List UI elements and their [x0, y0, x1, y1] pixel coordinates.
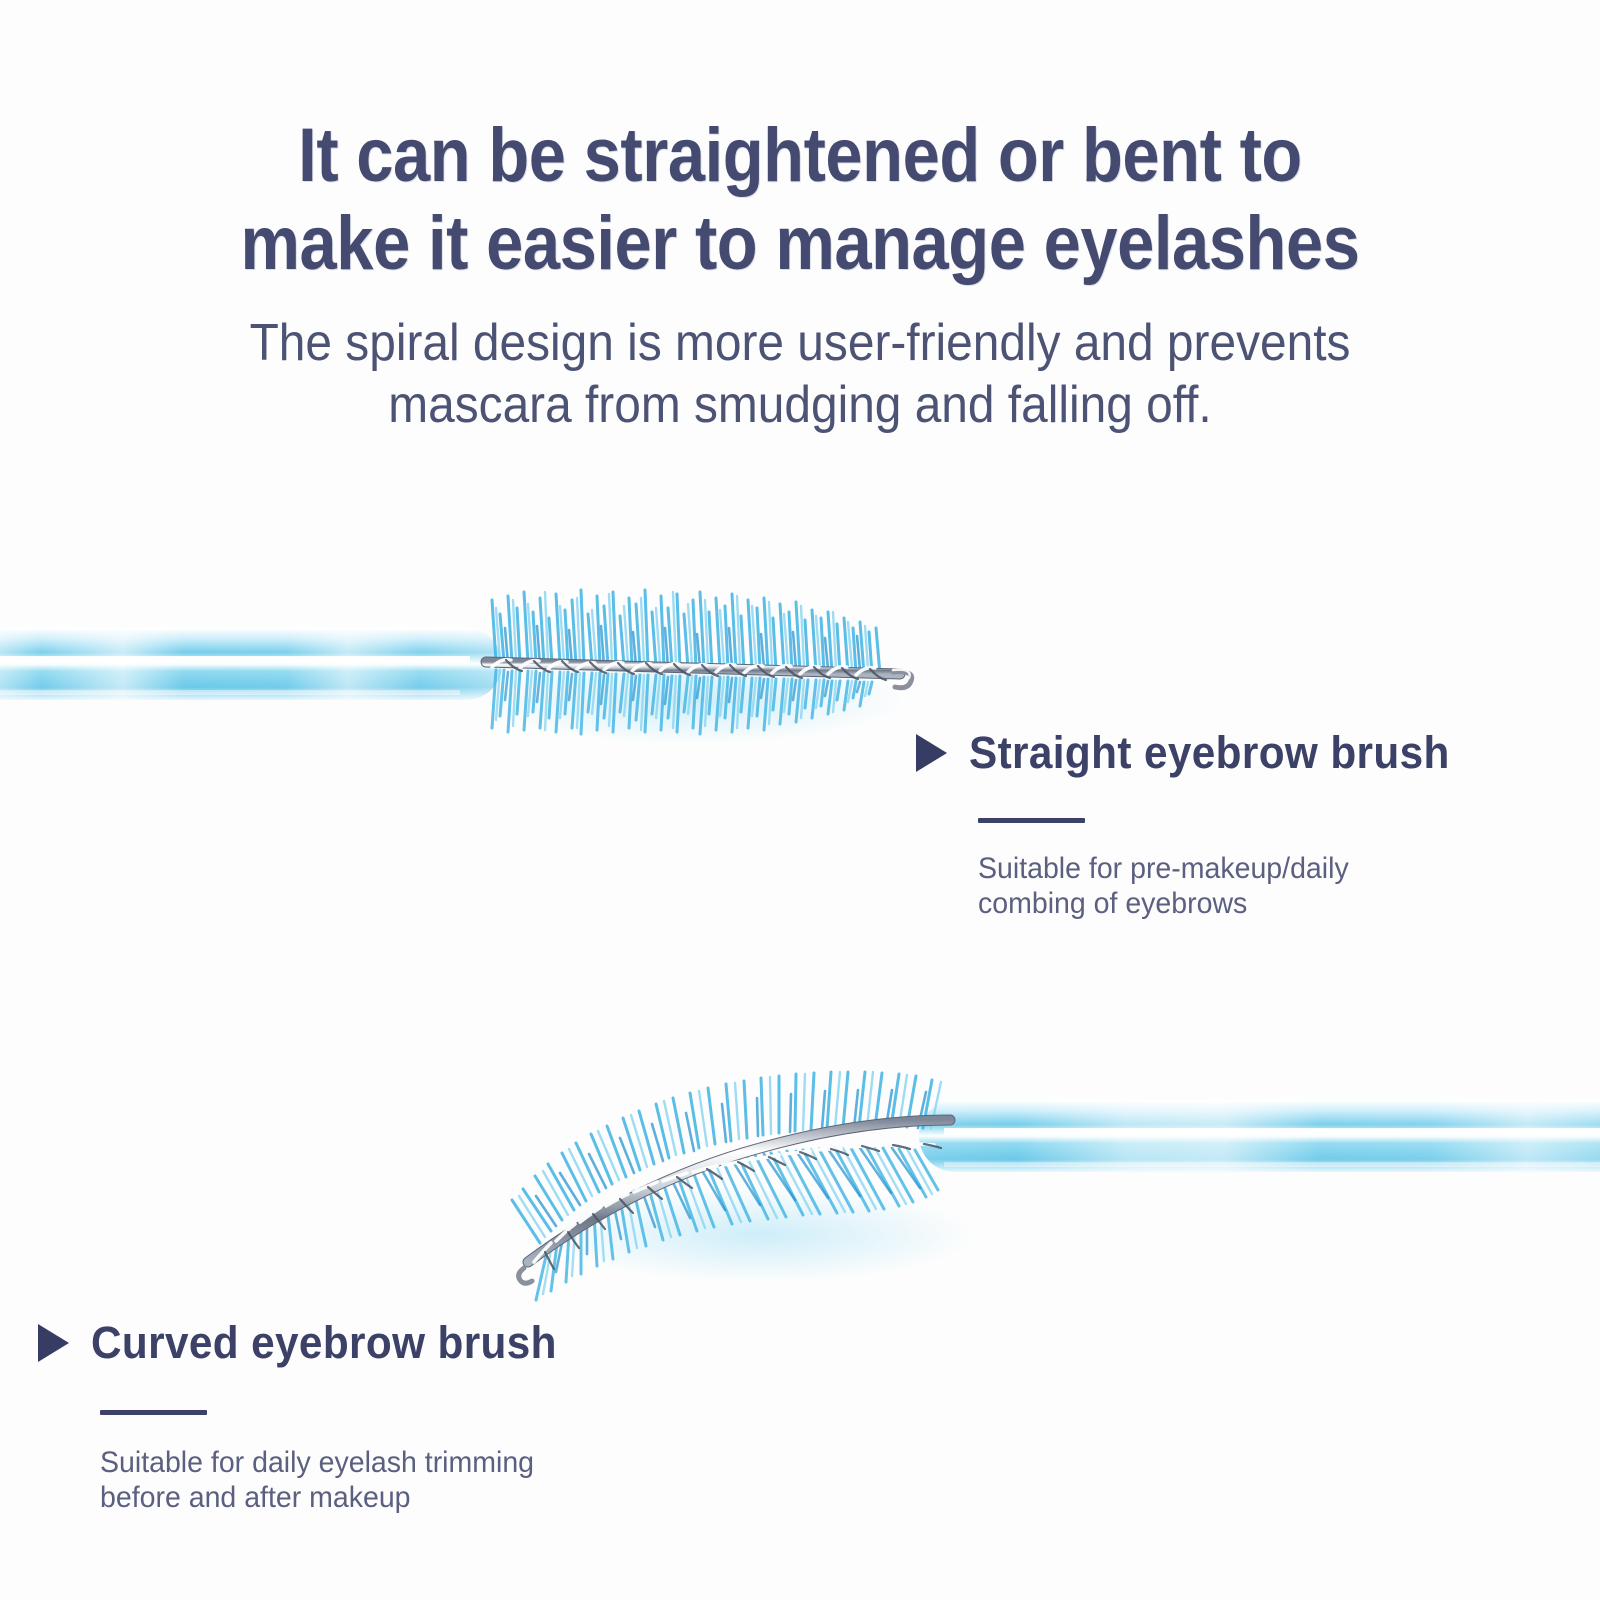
callout-description: Suitable for pre-makeup/daily combing of…	[978, 851, 1455, 921]
curved-brush-handle	[919, 1098, 1600, 1172]
straight-brush-handle	[0, 626, 502, 700]
callout-divider	[100, 1410, 207, 1415]
callout-divider	[978, 818, 1085, 823]
callout-curved-eyebrow-brush: Curved eyebrow brush Suitable for daily …	[38, 1318, 587, 1515]
curved-eyebrow-brush-photo	[512, 1072, 1600, 1300]
callout-description: Suitable for daily eyelash trimming befo…	[100, 1445, 562, 1515]
straight-brush-bristles	[492, 590, 880, 734]
curved-brush-bristles	[512, 1072, 941, 1300]
page-title: It can be straightened or bent to make i…	[96, 112, 1504, 288]
curved-brush-wire-core	[519, 1120, 950, 1283]
play-triangle-icon	[38, 1324, 69, 1362]
callout-title: Curved eyebrow brush	[91, 1318, 557, 1368]
callout-straight-eyebrow-brush: Straight eyebrow brush Suitable for pre-…	[916, 728, 1480, 921]
callout-title-row: Curved eyebrow brush	[38, 1318, 587, 1368]
page-subtitle: The spiral design is more user-friendly …	[64, 312, 1536, 436]
callout-title: Straight eyebrow brush	[969, 728, 1450, 778]
straight-eyebrow-brush-photo	[0, 590, 912, 744]
straight-brush-wire-core	[486, 660, 912, 688]
play-triangle-icon	[916, 734, 947, 772]
callout-title-row: Straight eyebrow brush	[916, 728, 1480, 778]
